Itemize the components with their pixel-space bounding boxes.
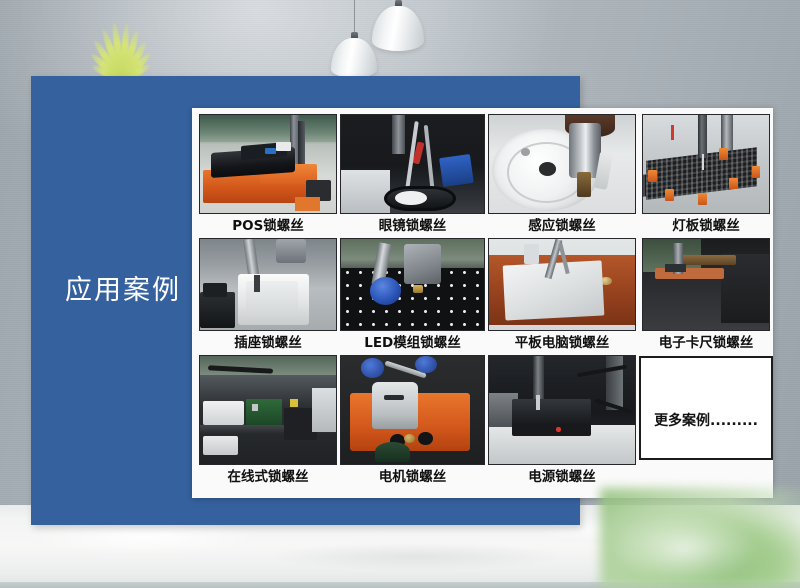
case-label: 插座锁螺丝 — [234, 331, 302, 355]
lamp-shade — [372, 6, 424, 51]
more-cases-box[interactable]: 更多案例......... — [639, 356, 773, 460]
case-label: 灯板锁螺丝 — [672, 214, 740, 238]
case-label: 电子卡尺锁螺丝 — [659, 331, 754, 355]
more-cases-cell[interactable]: 更多案例......... — [639, 355, 773, 489]
case-cell[interactable]: 平板电脑锁螺丝 — [488, 238, 636, 355]
case-thumbnail[interactable] — [340, 114, 485, 214]
case-thumbnail[interactable] — [199, 238, 337, 331]
case-cell[interactable]: LED模组锁螺丝 — [340, 238, 485, 355]
cases-card: POS锁螺丝眼镜锁螺丝感应锁螺丝灯板锁螺丝插座锁螺丝LED模组锁螺丝平板电脑锁螺… — [192, 108, 773, 498]
lamp-shade — [331, 38, 377, 78]
case-label: 感应锁螺丝 — [528, 214, 596, 238]
case-thumbnail[interactable] — [642, 114, 771, 214]
blurred-green-leaf-icon — [600, 488, 800, 588]
case-cell[interactable]: 感应锁螺丝 — [488, 114, 636, 238]
case-label: POS锁螺丝 — [232, 214, 304, 238]
spiky-plant-icon — [62, 18, 182, 82]
case-thumbnail[interactable] — [199, 355, 337, 465]
case-cell[interactable]: 灯板锁螺丝 — [639, 114, 773, 238]
case-thumbnail[interactable] — [199, 114, 337, 214]
more-cases-label: 更多案例......... — [654, 410, 758, 430]
case-thumbnail[interactable] — [488, 355, 636, 465]
case-cell[interactable]: 在线式锁螺丝 — [199, 355, 337, 489]
case-thumbnail[interactable] — [488, 114, 636, 214]
page-title: 应用案例 — [65, 277, 181, 304]
case-thumbnail[interactable] — [340, 355, 485, 465]
case-label: 平板电脑锁螺丝 — [515, 331, 610, 355]
case-thumbnail[interactable] — [488, 238, 636, 331]
case-cell[interactable]: 电子卡尺锁螺丝 — [639, 238, 773, 355]
slide-canvas: 应用案例 POS锁螺丝眼镜锁螺丝感应锁螺丝灯板锁螺丝插座锁螺丝LED模组锁螺丝平… — [0, 0, 800, 588]
case-cell[interactable]: 电机锁螺丝 — [340, 355, 485, 489]
case-cell[interactable]: 电源锁螺丝 — [488, 355, 636, 489]
case-label: 电源锁螺丝 — [528, 465, 596, 489]
lamp-cord — [354, 0, 355, 36]
pendant-lamp-icon — [372, 0, 424, 56]
case-label: LED模组锁螺丝 — [364, 331, 461, 355]
case-cell[interactable]: POS锁螺丝 — [199, 114, 337, 238]
case-label: 眼镜锁螺丝 — [379, 214, 447, 238]
pendant-lamp-icon — [331, 0, 377, 78]
case-thumbnail[interactable] — [340, 238, 485, 331]
case-cell[interactable]: 眼镜锁螺丝 — [340, 114, 485, 238]
case-label: 电机锁螺丝 — [379, 465, 447, 489]
case-label: 在线式锁螺丝 — [228, 465, 309, 489]
case-thumbnail[interactable] — [642, 238, 771, 331]
case-cell[interactable]: 插座锁螺丝 — [199, 238, 337, 355]
cases-grid: POS锁螺丝眼镜锁螺丝感应锁螺丝灯板锁螺丝插座锁螺丝LED模组锁螺丝平板电脑锁螺… — [199, 114, 766, 494]
